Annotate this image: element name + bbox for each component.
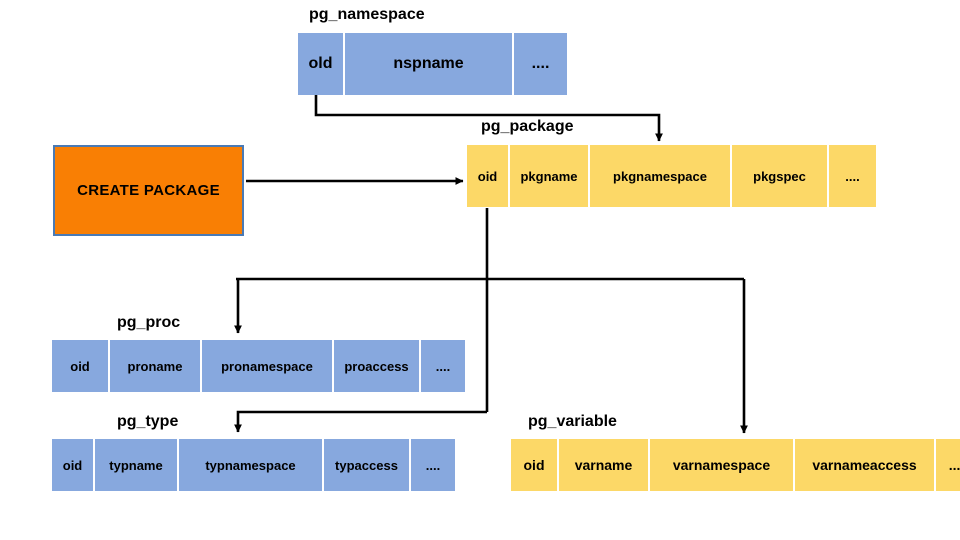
table-pg-package: oid pkgname pkgnamespace pkgspec .... xyxy=(467,145,876,207)
column-varnameaccess: varnameaccess xyxy=(795,439,934,491)
column-proaccess: proaccess xyxy=(334,340,419,392)
column-pkgnamespace: pkgnamespace xyxy=(590,145,730,207)
column-nspname: nspname xyxy=(345,33,512,95)
table-label-pg-package: pg_package xyxy=(481,118,573,136)
column-varname: varname xyxy=(559,439,648,491)
column-pkg-more: .... xyxy=(829,145,876,207)
create-package-box[interactable]: CREATE PACKAGE xyxy=(53,145,244,236)
column-proname: proname xyxy=(110,340,200,392)
table-pg-variable: oid varname varnamespace varnameaccess .… xyxy=(511,439,960,491)
column-pkgname: pkgname xyxy=(510,145,588,207)
column-typnamespace: typnamespace xyxy=(179,439,322,491)
table-pg-type: oid typname typnamespace typaccess .... xyxy=(52,439,455,491)
column-pronamespace: pronamespace xyxy=(202,340,332,392)
table-pg-namespace: old nspname .... xyxy=(298,33,567,95)
column-var-more: .... xyxy=(936,439,960,491)
column-var-oid: oid xyxy=(511,439,557,491)
table-label-pg-namespace: pg_namespace xyxy=(309,6,425,24)
column-varnamespace: varnamespace xyxy=(650,439,793,491)
column-pkgspec: pkgspec xyxy=(732,145,827,207)
column-typname: typname xyxy=(95,439,177,491)
diagram-canvas: pg_namespace old nspname .... CREATE PAC… xyxy=(0,0,960,540)
column-pro-more: .... xyxy=(421,340,465,392)
connector-pkg-oid-to-pg-type xyxy=(238,412,487,432)
column-typ-more: .... xyxy=(411,439,455,491)
column-old: old xyxy=(298,33,343,95)
table-label-pg-type: pg_type xyxy=(117,413,178,431)
table-label-pg-variable: pg_variable xyxy=(528,413,617,431)
column-pkg-oid: oid xyxy=(467,145,508,207)
column-typ-oid: oid xyxy=(52,439,93,491)
table-label-pg-proc: pg_proc xyxy=(117,314,180,332)
column-typaccess: typaccess xyxy=(324,439,409,491)
table-pg-proc: oid proname pronamespace proaccess .... xyxy=(52,340,465,392)
connector-pkg-oid-branches xyxy=(236,208,744,433)
column-namespace-more: .... xyxy=(514,33,567,95)
column-pro-oid: oid xyxy=(52,340,108,392)
